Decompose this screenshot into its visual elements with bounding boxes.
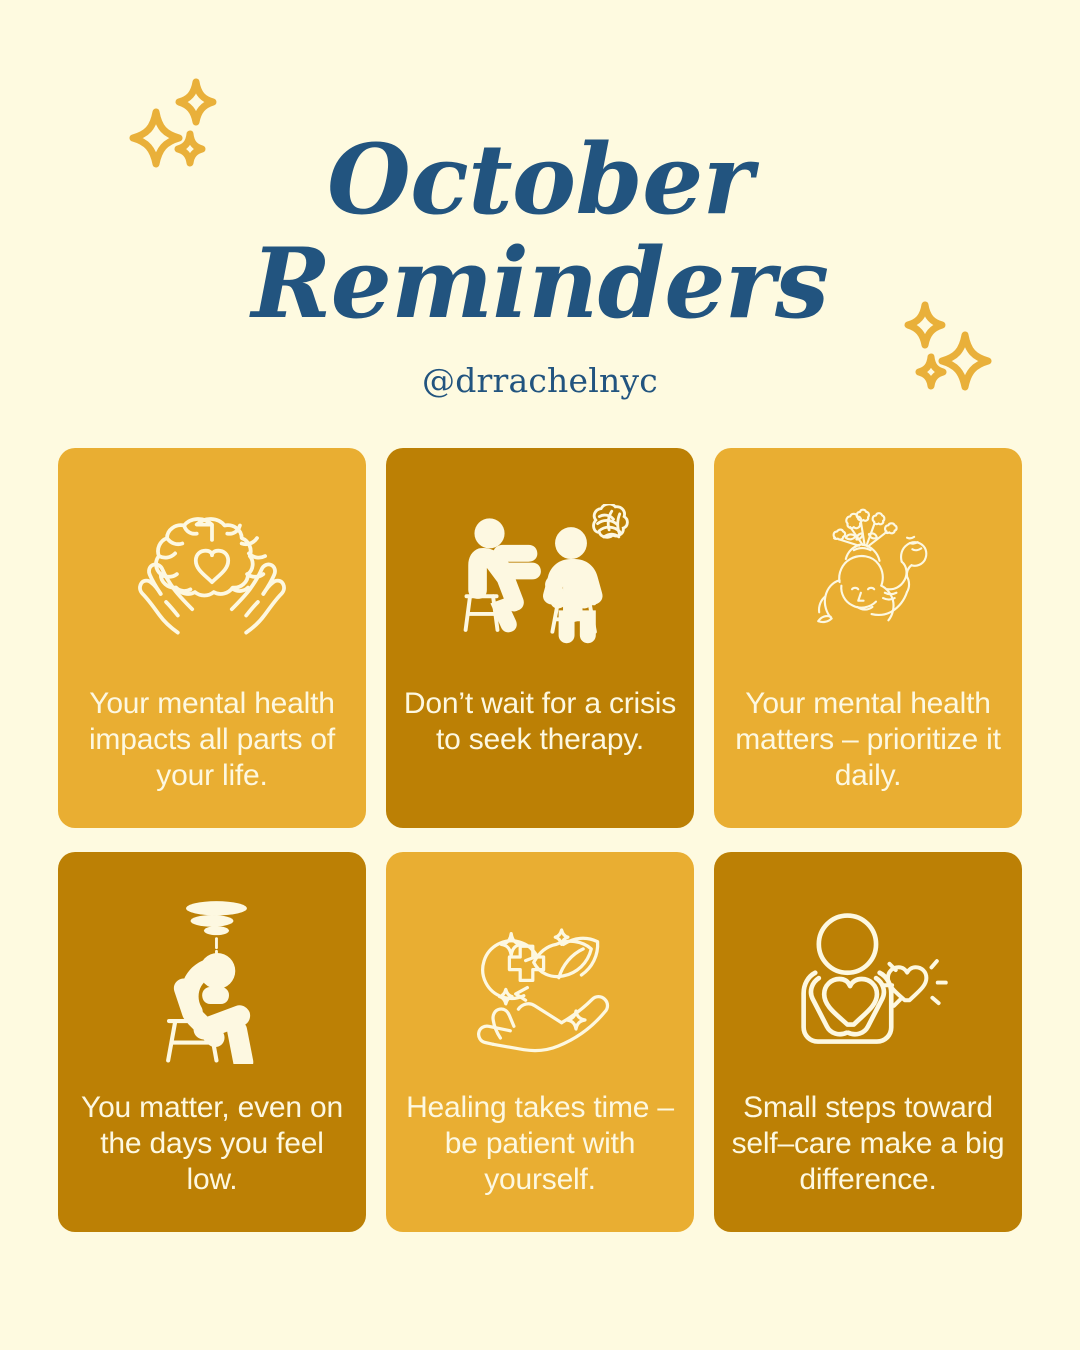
- reminder-card-4[interactable]: You matter, even on the days you feel lo…: [58, 852, 366, 1232]
- reminder-card-6-text: Small steps toward self–care make a big …: [724, 1074, 1012, 1208]
- poster-canvas: October Reminders @drrachelnyc: [0, 0, 1080, 1350]
- self-hug-heart-icon: [724, 884, 1012, 1074]
- hands-holding-brain-heart-icon: [68, 480, 356, 670]
- therapy-session-two-people-icon: [396, 480, 684, 670]
- reminder-card-3[interactable]: Your mental health matters – prioritize …: [714, 448, 1022, 828]
- account-handle: @drrachelnyc: [0, 361, 1080, 400]
- title-line-2: Reminders: [0, 232, 1080, 336]
- reminder-card-5[interactable]: Healing takes time – be patient with you…: [386, 852, 694, 1232]
- reminder-card-1[interactable]: Your mental health impacts all parts of …: [58, 448, 366, 828]
- reminder-caption: Healing takes time – be patient with you…: [396, 1090, 684, 1198]
- reminder-card-1-text: Your mental health impacts all parts of …: [68, 670, 356, 804]
- reminder-card-2[interactable]: Don’t wait for a crisis to seek therapy.: [386, 448, 694, 828]
- hand-holding-cross-and-leaves-icon: [396, 884, 684, 1074]
- reminder-card-2-text: Don’t wait for a crisis to seek therapy.: [396, 670, 684, 804]
- title-line-1: October: [0, 128, 1080, 232]
- reminder-caption: Your mental health matters – prioritize …: [724, 686, 1012, 794]
- reminder-card-4-text: You matter, even on the days you feel lo…: [68, 1074, 356, 1208]
- reminder-card-grid: Your mental health impacts all parts of …: [58, 448, 1022, 1232]
- reminder-card-3-text: Your mental health matters – prioritize …: [724, 670, 1012, 804]
- reminder-card-5-text: Healing takes time – be patient with you…: [396, 1074, 684, 1208]
- woman-with-flowers-growing-icon: [724, 480, 1012, 670]
- sad-person-raincloud-icon: [68, 884, 356, 1074]
- reminder-caption: Your mental health impacts all parts of …: [68, 686, 356, 794]
- reminder-card-6[interactable]: Small steps toward self–care make a big …: [714, 852, 1022, 1232]
- reminder-caption: You matter, even on the days you feel lo…: [68, 1090, 356, 1198]
- reminder-caption: Small steps toward self–care make a big …: [724, 1090, 1012, 1198]
- reminder-caption: Don’t wait for a crisis to seek therapy.: [396, 686, 684, 758]
- poster-header: October Reminders @drrachelnyc: [0, 128, 1080, 400]
- page-title: October Reminders: [0, 128, 1080, 335]
